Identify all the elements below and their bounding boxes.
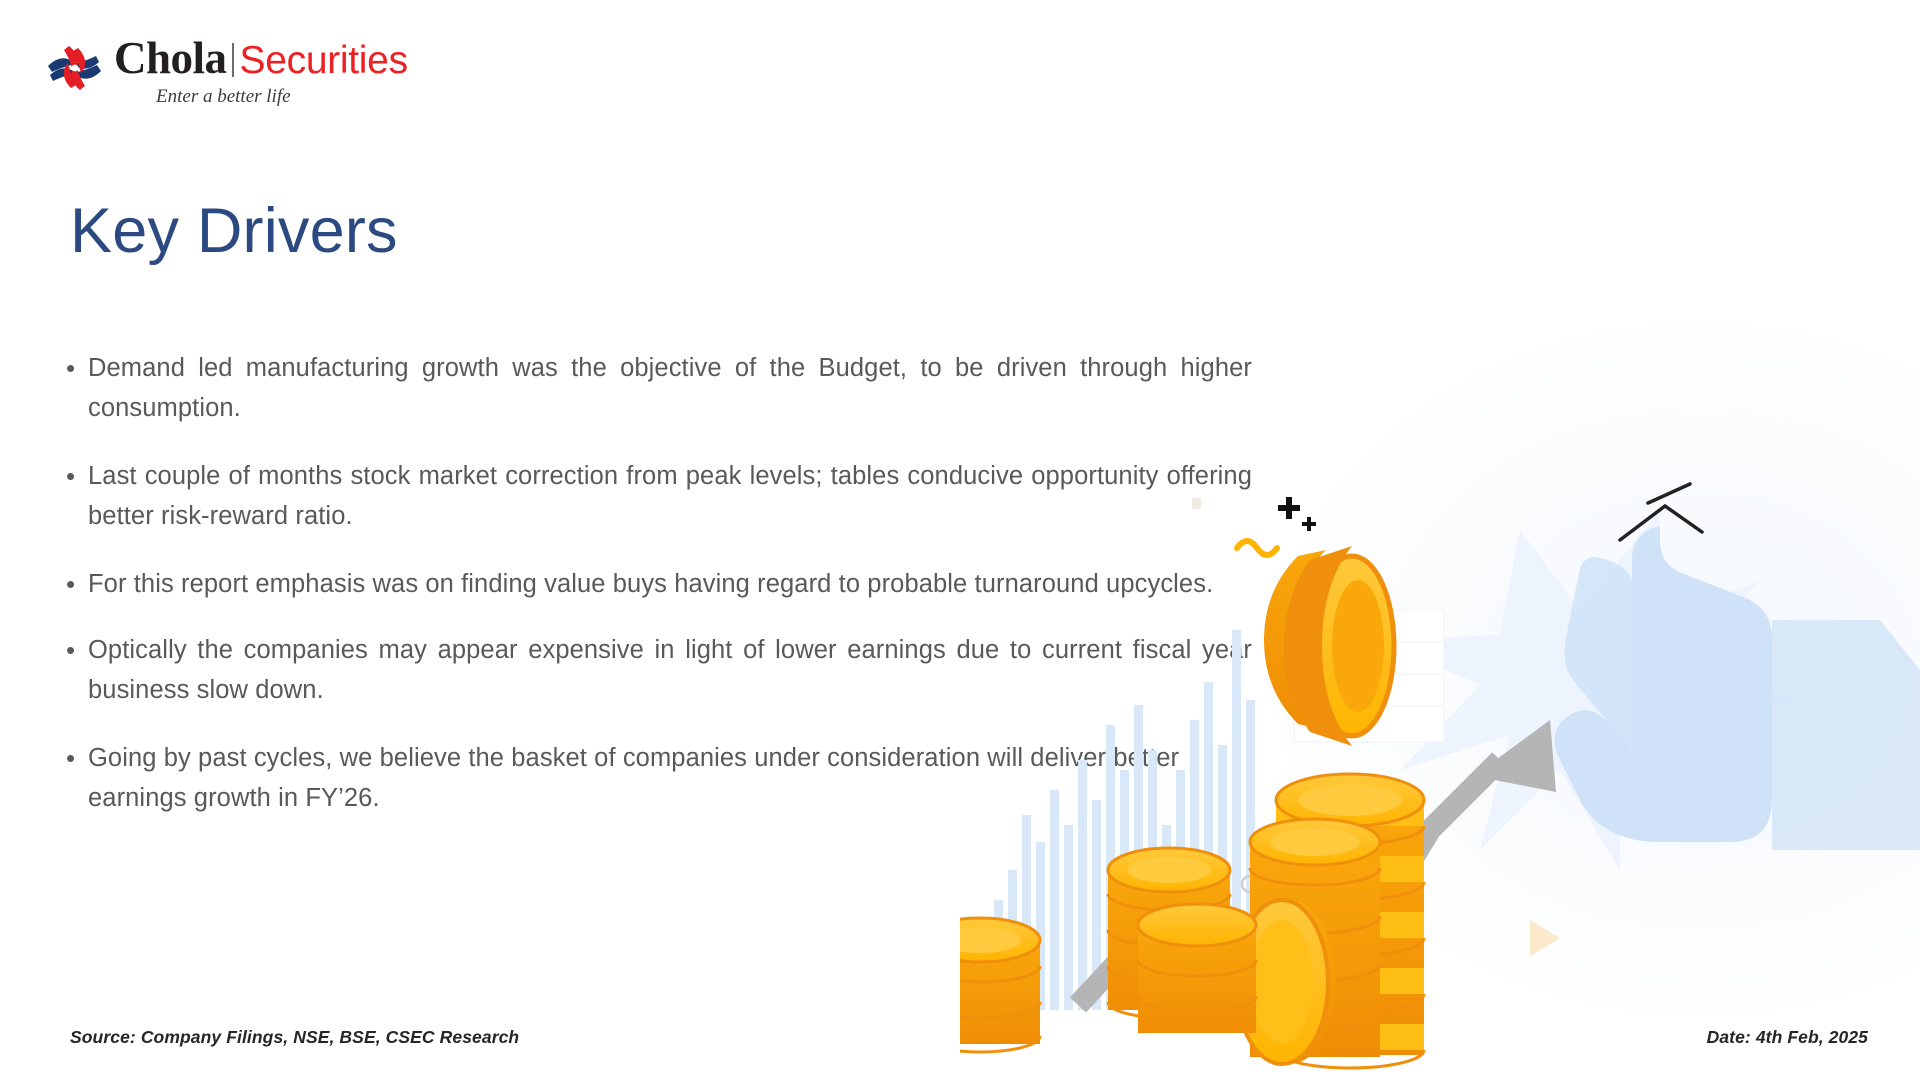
slide-canvas: CholaSecurities Enter a better life Key … <box>0 0 1920 1080</box>
bullet-marker-icon: • <box>62 738 88 778</box>
bullet-marker-icon: • <box>62 456 88 496</box>
coin-stack-4 <box>1250 774 1424 1068</box>
upright-coin <box>1236 900 1336 1064</box>
date-note: Date: 4th Feb, 2025 <box>1707 1027 1868 1048</box>
bullet-text: Going by past cycles, we believe the bas… <box>88 738 1252 818</box>
page-title: Key Drivers <box>70 198 398 264</box>
brand-logo: CholaSecurities Enter a better life <box>44 38 384 104</box>
brand-name-primary: Chola <box>114 33 227 83</box>
bullet-text: Last couple of months stock market corre… <box>88 456 1252 536</box>
bullet-marker-icon: • <box>62 348 88 388</box>
list-item: • For this report emphasis was on findin… <box>62 564 1252 604</box>
bullet-marker-icon: • <box>62 564 88 604</box>
hand-dropping-coin-icon <box>1555 470 1920 850</box>
dropped-coin <box>1264 550 1394 736</box>
list-item: • Optically the companies may appear exp… <box>62 630 1252 710</box>
bullet-text: For this report emphasis was on finding … <box>88 564 1252 604</box>
list-item: • Going by past cycles, we believe the b… <box>62 738 1252 818</box>
chola-swirl-logo-icon <box>44 42 106 94</box>
brand-divider <box>232 43 234 77</box>
brand-name-secondary: Securities <box>240 39 408 82</box>
coin-stack-3 <box>1108 848 1256 1033</box>
mini-chart-card <box>1294 610 1444 742</box>
brand-tagline: Enter a better life <box>156 86 291 108</box>
coin-stack-2 <box>960 918 1040 1052</box>
starburst-shape <box>1380 510 1800 870</box>
dropped-coin-body <box>1284 546 1352 746</box>
bullet-text: Optically the companies may appear expen… <box>88 630 1252 710</box>
bullet-text: Demand led manufacturing growth was the … <box>88 348 1252 428</box>
source-note: Source: Company Filings, NSE, BSE, CSEC … <box>70 1027 519 1048</box>
brand-wordmark: CholaSecurities <box>114 36 408 81</box>
list-item: • Last couple of months stock market cor… <box>62 456 1252 536</box>
decorations <box>1192 484 1702 1030</box>
bullet-marker-icon: • <box>62 630 88 670</box>
list-item: • Demand led manufacturing growth was th… <box>62 348 1252 428</box>
key-drivers-bullet-list: • Demand led manufacturing growth was th… <box>62 348 1252 846</box>
